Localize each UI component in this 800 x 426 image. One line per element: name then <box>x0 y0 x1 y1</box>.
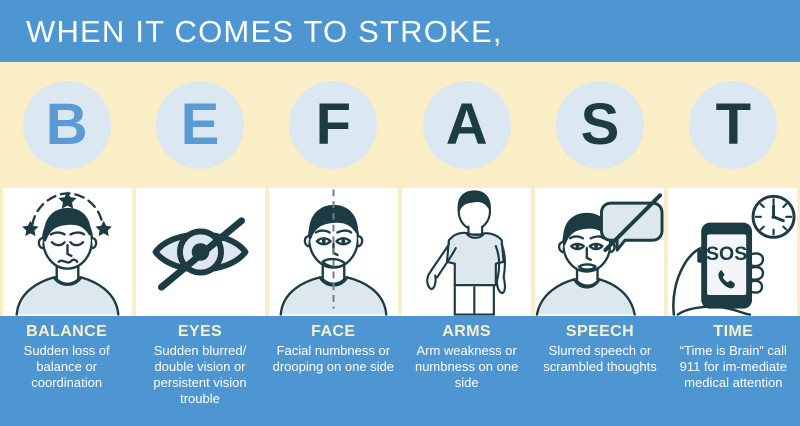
caption-title-arms: ARMS <box>442 322 491 342</box>
caption-title-time: TIME <box>713 322 753 342</box>
letter-glyph-a: A <box>446 96 488 154</box>
caption-speech: SPEECH Slurred speech or scrambled thoug… <box>533 322 666 418</box>
letter-circle-t: T <box>689 81 777 169</box>
caption-title-speech: SPEECH <box>566 322 634 342</box>
illustration-row: SOS <box>0 188 800 316</box>
sos-label: SOS <box>706 243 747 265</box>
caption-balance: BALANCE Sudden loss of balance or coordi… <box>0 322 133 418</box>
letter-glyph-e: E <box>181 96 220 154</box>
letter-circle-e: E <box>156 81 244 169</box>
icon-panel-face <box>269 188 398 316</box>
letter-cell-a: A <box>400 81 533 169</box>
caption-desc-face: Facial numbness or drooping on one side <box>271 343 396 375</box>
caption-eyes: EYES Sudden blurred/ double vision or pe… <box>133 322 266 418</box>
page-title: WHEN IT COMES TO STROKE, <box>26 16 503 47</box>
face-with-center-line-icon <box>269 188 398 316</box>
stroke-be-fast-infographic: WHEN IT COMES TO STROKE, B E F A S <box>0 0 800 426</box>
icon-panel-eyes <box>136 188 265 316</box>
caption-desc-balance: Sudden loss of balance or coordination <box>4 343 129 391</box>
person-with-drooping-arm-icon <box>402 188 531 316</box>
letter-cell-f: F <box>267 81 400 169</box>
acronym-letters-row: B E F A S T <box>0 62 800 188</box>
icon-panel-balance <box>3 188 132 316</box>
letter-cell-t: T <box>667 81 800 169</box>
caption-title-eyes: EYES <box>178 322 222 342</box>
person-with-crossed-out-speech-bubble-icon <box>535 188 664 316</box>
caption-title-face: FACE <box>311 322 355 342</box>
letter-glyph-s: S <box>581 96 620 154</box>
caption-desc-eyes: Sudden blurred/ double vision or persist… <box>137 343 262 406</box>
icon-panel-speech <box>535 188 664 316</box>
letter-glyph-f: F <box>316 96 351 154</box>
letter-glyph-t: T <box>716 96 751 154</box>
caption-time: TIME “Time is Brain” call 911 for im-med… <box>667 322 800 418</box>
letter-cell-e: E <box>133 81 266 169</box>
caption-title-balance: BALANCE <box>26 322 107 342</box>
crossed-out-eye-icon <box>136 188 265 316</box>
letter-glyph-b: B <box>46 96 88 154</box>
letter-cell-b: B <box>0 81 133 169</box>
caption-desc-speech: Slurred speech or scrambled thoughts <box>537 343 662 375</box>
icon-panel-arms <box>402 188 531 316</box>
caption-arms: ARMS Arm weakness or numbness on one sid… <box>400 322 533 418</box>
letter-circle-f: F <box>289 81 377 169</box>
caption-face: FACE Facial numbness or drooping on one … <box>267 322 400 418</box>
caption-desc-time: “Time is Brain” call 911 for im-mediate … <box>671 343 796 391</box>
letter-circle-a: A <box>423 81 511 169</box>
letter-circle-s: S <box>556 81 644 169</box>
clock-icon <box>753 196 794 237</box>
captions-row: BALANCE Sudden loss of balance or coordi… <box>0 316 800 426</box>
header-banner: WHEN IT COMES TO STROKE, <box>0 0 800 62</box>
hand-holding-sos-phone-with-clock-icon: SOS <box>668 188 797 316</box>
letter-cell-s: S <box>533 81 666 169</box>
dizzy-person-with-stars-icon <box>3 188 132 316</box>
icon-panel-time: SOS <box>668 188 797 316</box>
caption-desc-arms: Arm weakness or numbness on one side <box>404 343 529 391</box>
letter-circle-b: B <box>23 81 111 169</box>
